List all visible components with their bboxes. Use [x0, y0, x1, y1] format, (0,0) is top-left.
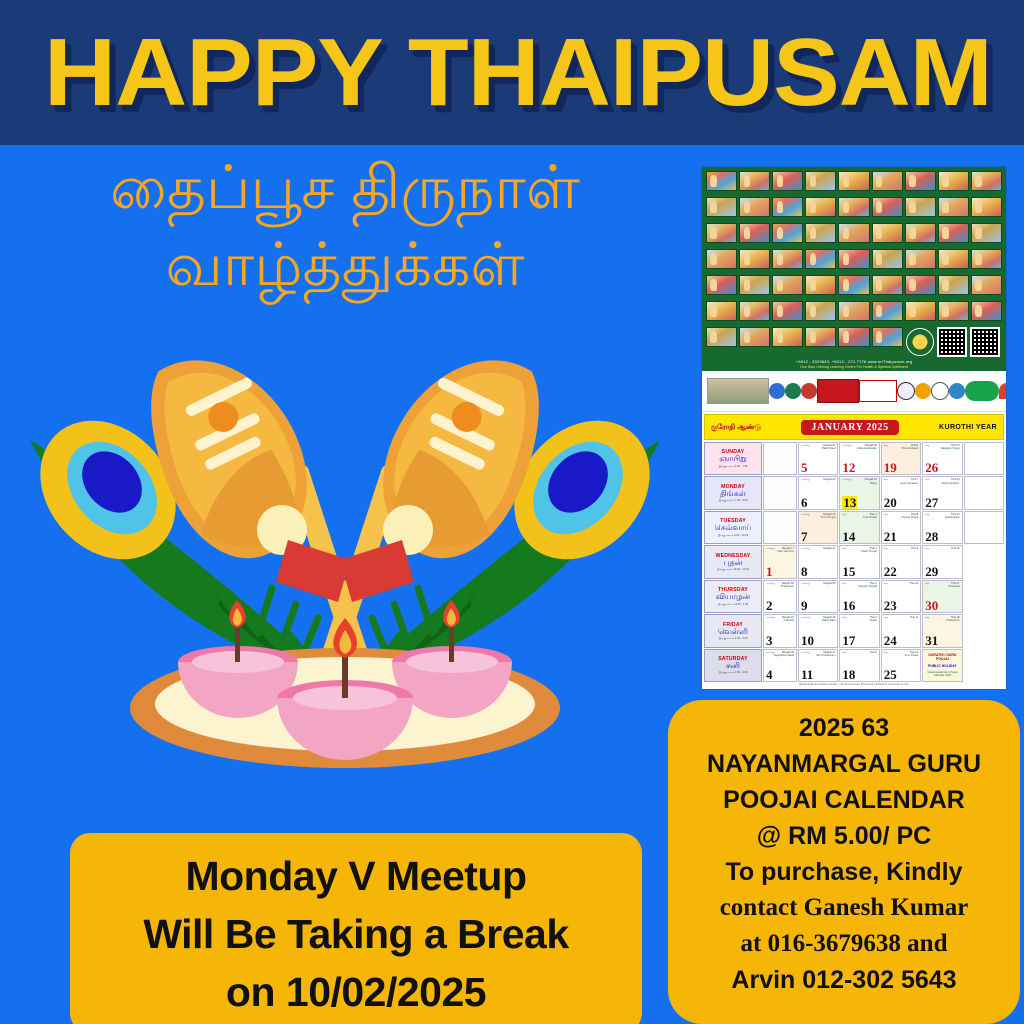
calendar-footnote: Nayanmargal Guru Poojai Calendar — All r… — [704, 682, 1004, 687]
saint-image-item — [772, 223, 803, 247]
saint-image-item — [905, 249, 936, 273]
date-cell[interactable]: தைThai 8 Poornai Poojai 21 — [881, 511, 921, 544]
notice-line-3: on 10/02/2025 — [226, 963, 486, 1021]
calendar-row-wednesday: WEDNESDAY புதன் இராகு காலம் 10.30 - 12.0… — [704, 545, 1004, 578]
vel-blade-left — [140, 341, 322, 573]
calendar-tagline: One Stop Lifelong Learning Centre For He… — [706, 365, 1002, 369]
saint-image-item — [905, 197, 936, 221]
saint-thumb-icon — [772, 327, 803, 347]
saint-thumb-icon — [872, 275, 903, 295]
saint-image-item — [739, 327, 770, 357]
saint-image-item — [905, 171, 936, 195]
saint-thumb-icon — [872, 171, 903, 191]
date-cell[interactable]: மார்கழிMargali 25 9 — [798, 580, 838, 613]
saint-image-item — [905, 301, 936, 325]
date-cell[interactable]: தைThai 10 23 — [881, 580, 921, 613]
sponsor-logo — [897, 379, 915, 403]
date-cell[interactable]: மார்கழிMargali 17 New Year Day 1 — [763, 545, 797, 578]
saint-image-item — [838, 301, 869, 325]
date-cell[interactable]: தைThai 3 Kaanum Pongal 16 — [839, 580, 879, 613]
promo-line-2: NAYANMARGAL GURU — [676, 746, 1012, 782]
saint-image-item — [706, 171, 737, 195]
date-cell[interactable]: தைThai 5 18 — [839, 649, 879, 682]
saint-thumb-icon — [838, 197, 869, 217]
saint-thumb-icon — [905, 301, 936, 321]
saint-thumb-icon — [706, 223, 737, 243]
saint-thumb-icon — [805, 327, 836, 347]
date-cell[interactable]: மார்கழிMargali 27 Sani Pradosham 11 — [798, 649, 838, 682]
saint-thumb-icon — [772, 223, 803, 243]
saint-image-item — [838, 275, 869, 299]
promo-line-3: POOJAI CALENDAR — [676, 782, 1012, 818]
calendar-row-monday: MONDAY திங்கள் இராகு காலம் 7.30 - 9.00 ம… — [704, 476, 1004, 509]
saint-thumb-icon — [971, 197, 1002, 217]
saint-thumb-icon — [805, 223, 836, 243]
date-cell[interactable]: மார்கழிMargali 29 Bhogi 13 — [839, 476, 879, 509]
date-cell[interactable]: தைThai 11 24 — [881, 614, 921, 647]
vel-blade-right — [368, 341, 550, 573]
tamil-greeting: தைப்பூச திருநாள் வாழ்த்துக்கள் — [0, 150, 690, 304]
saint-image-item — [739, 171, 770, 195]
sponsor-logo — [817, 378, 859, 404]
saint-image-item — [706, 301, 737, 325]
saint-image-item — [805, 197, 836, 221]
qr-code-1[interactable] — [937, 327, 967, 357]
saint-image-item — [805, 171, 836, 195]
weekday-label-saturday: SATURDAY சனி இராகு காலம் 3.00 - 4.30 — [704, 649, 762, 682]
saint-thumb-icon — [971, 171, 1002, 191]
saint-thumb-icon — [905, 171, 936, 191]
saint-image-item — [905, 223, 936, 247]
calendar-row-tuesday: TUESDAY செவ்வாய் இராகு காலம் 9.00 - 10.3… — [704, 511, 1004, 544]
saint-thumb-icon — [971, 223, 1002, 243]
saint-image-item — [739, 223, 770, 247]
saint-image-item — [905, 275, 936, 299]
raagu-kaalam-column — [763, 442, 797, 475]
saint-image-item — [971, 171, 1002, 195]
weekday-label-thursday: THURSDAY வியாழன் இராகு காலம் 12.00 - 1.3… — [704, 580, 762, 613]
saint-thumb-icon — [805, 197, 836, 217]
date-cell[interactable]: மார்கழிMargali 18 Pradosham 2 — [763, 580, 797, 613]
date-cell-empty — [964, 511, 1004, 544]
saint-images-grid — [706, 171, 1002, 325]
saint-thumb-icon — [772, 301, 803, 321]
weekday-label-wednesday: WEDNESDAY புதன் இராகு காலம் 10.30 - 12.0… — [704, 545, 762, 578]
date-cell-empty — [964, 442, 1004, 475]
saint-image-item — [772, 249, 803, 273]
saint-image-item — [838, 171, 869, 195]
calendar-row-friday: FRIDAY வெள்ளி இராகு காலம் 1.30 - 3.00 மா… — [704, 614, 1004, 647]
date-cell[interactable]: தைThai 16 29 — [922, 545, 962, 578]
promo-line-phone-2: Arvin 012-302 5643 — [676, 962, 1012, 998]
raagu-kaalam-column — [763, 476, 797, 509]
calendar-row-sunday: SUNDAY ஞாயிறு இராகு காலம் 6.00 - 7.30 மா… — [704, 442, 1004, 475]
kurothi-year-label: KUROTHI YEAR — [939, 424, 997, 431]
saint-thumb-icon — [971, 275, 1002, 295]
weekday-label-sunday: SUNDAY ஞாயிறு இராகு காலம் 6.00 - 7.30 — [704, 442, 762, 475]
saint-image-item — [971, 197, 1002, 221]
calendar-promo-box[interactable]: 2025 63 NAYANMARGAL GURU POOJAI CALENDAR… — [668, 700, 1020, 1024]
saint-thumb-icon — [706, 275, 737, 295]
sponsor-logo — [915, 379, 931, 403]
saint-thumb-icon — [739, 249, 770, 269]
qr-code-2[interactable] — [970, 327, 1000, 357]
saint-image-item — [706, 223, 737, 247]
saint-image-item — [838, 223, 869, 247]
saint-thumb-icon — [706, 249, 737, 269]
calendar-row-thursday: THURSDAY வியாழன் இராகு காலம் 12.00 - 1.3… — [704, 580, 1004, 613]
sponsor-logo — [949, 379, 965, 403]
saint-image-item — [872, 327, 903, 357]
date-cell[interactable]: மார்கழிMargali 19 Chaturthi 3 — [763, 614, 797, 647]
weekday-rows: SUNDAY ஞாயிறு இராகு காலம் 6.00 - 7.30 மா… — [704, 442, 1004, 682]
org-logo-and-qr-block — [905, 327, 1002, 357]
notice-line-2: Will Be Taking a Break — [143, 905, 568, 963]
sponsor-logo-strip — [702, 371, 1006, 412]
sponsor-logo — [769, 379, 785, 403]
saint-thumb-icon — [805, 275, 836, 295]
weekday-label-monday: MONDAY திங்கள் இராகு காலம் 7.30 - 9.00 — [704, 476, 762, 509]
sponsor-logo — [785, 379, 801, 403]
saint-thumb-icon — [838, 223, 869, 243]
saint-thumb-icon — [805, 171, 836, 191]
saint-thumb-icon — [905, 249, 936, 269]
saint-image-item — [872, 171, 903, 195]
calendar-contact-line: +6012 - 3029643, +6012 - 271 7776 www.sr… — [706, 359, 1002, 364]
saint-image-item — [805, 249, 836, 273]
date-cell[interactable]: தைThai 14 Sashti Viratham 27 — [922, 476, 962, 509]
thaipusam-greeting-poster: HAPPY THAIPUSAM தைப்பூச திருநாள் வாழ்த்த… — [0, 0, 1024, 1024]
thaipusam-illustration — [0, 330, 690, 800]
notice-line-1: Monday V Meetup — [185, 847, 526, 905]
saint-images-row-with-qr — [706, 327, 1002, 357]
date-cell[interactable]: தைThai 17 Amavasai 30 — [922, 580, 962, 613]
sponsor-logo — [801, 379, 817, 403]
public-holiday-cell: KURATHI / GURU POOJAI PUBLIC HOLIDAY Nay… — [922, 649, 962, 682]
date-cell[interactable]: மார்கழிMargali 28 Vaikunta Ekadasi 12 — [839, 442, 879, 475]
promo-line-1: 2025 63 — [676, 710, 1012, 746]
saint-thumb-icon — [872, 249, 903, 269]
saint-thumb-icon — [971, 301, 1002, 321]
date-cell-empty — [964, 476, 1004, 509]
saint-thumb-icon — [838, 275, 869, 295]
saint-image-item — [838, 197, 869, 221]
saint-thumb-icon — [772, 275, 803, 295]
saint-image-item — [872, 301, 903, 325]
date-cell[interactable]: மார்கழிMargali 21 Bakthi Naal 5 — [798, 442, 838, 475]
saint-thumb-icon — [905, 275, 936, 295]
org-logo-icon — [906, 328, 934, 356]
saint-thumb-icon — [905, 223, 936, 243]
saint-thumb-icon — [772, 197, 803, 217]
sponsor-logo — [931, 379, 949, 403]
page-title: HAPPY THAIPUSAM — [32, 25, 992, 121]
saint-image-item — [706, 249, 737, 273]
weekday-label-friday: FRIDAY வெள்ளி இராகு காலம் 1.30 - 3.00 — [704, 614, 762, 647]
date-cell[interactable]: தைThai 1 Thai Pongal 14 — [839, 511, 879, 544]
saint-image-item — [872, 249, 903, 273]
month-banner: குரோதி ஆண்டு JANUARY 2025 KUROTHI YEAR — [704, 414, 1004, 440]
promo-line-5: To purchase, Kindly — [676, 854, 1012, 890]
date-cell[interactable]: தைThai 12 Guru Poojai 25 — [881, 649, 921, 682]
weekday-label-tuesday: TUESDAY செவ்வாய் இராகு காலம் 9.00 - 10.3… — [704, 511, 762, 544]
date-cell[interactable]: தைThai 7 Guru Ashtakam 20 — [881, 476, 921, 509]
date-cell[interactable]: மார்கழிMargali 22 6 — [798, 476, 838, 509]
promo-line-phone-1: at 016-3679638 and — [676, 926, 1012, 962]
saint-image-item — [805, 223, 836, 247]
sponsor-logo — [707, 378, 769, 404]
date-cell[interactable]: மார்கழிMargali 20 Nagarathar Sabai 4 — [763, 649, 797, 682]
date-cell[interactable]: தைThai 18 Pradosham 31 — [922, 614, 962, 647]
saint-thumb-icon — [938, 275, 969, 295]
saint-thumb-icon — [739, 301, 770, 321]
saint-image-item — [706, 327, 737, 357]
date-cell[interactable]: மார்கழிMargali 24 8 — [798, 545, 838, 578]
saint-thumb-icon — [971, 249, 1002, 269]
calendar-top-panel: +6012 - 3029643, +6012 - 271 7776 www.sr… — [702, 167, 1006, 371]
saint-image-item — [739, 249, 770, 273]
saint-thumb-icon — [938, 249, 969, 269]
raagu-kaalam-column — [763, 511, 797, 544]
saint-image-item — [872, 275, 903, 299]
saint-thumb-icon — [772, 171, 803, 191]
saint-image-item — [971, 223, 1002, 247]
saint-thumb-icon — [872, 327, 903, 347]
month-title: JANUARY 2025 — [801, 420, 898, 435]
saint-thumb-icon — [938, 223, 969, 243]
sponsor-logo — [859, 378, 897, 404]
saint-image-item — [739, 197, 770, 221]
date-cell[interactable]: தைThai 6 Thiruvembavai 19 — [881, 442, 921, 475]
promo-line-price: @ RM 5.00/ PC — [676, 818, 1012, 854]
saint-image-item — [772, 197, 803, 221]
saint-image-item — [971, 249, 1002, 273]
saint-thumb-icon — [706, 197, 737, 217]
saint-image-item — [938, 223, 969, 247]
saint-image-item — [971, 301, 1002, 325]
saint-thumb-icon — [938, 197, 969, 217]
saint-image-item — [805, 327, 836, 357]
saint-thumb-icon — [872, 197, 903, 217]
saint-image-item — [772, 275, 803, 299]
saint-image-item — [872, 197, 903, 221]
saint-thumb-icon — [739, 327, 770, 347]
promo-line-contact-name: contact Ganesh Kumar — [676, 890, 1012, 926]
saint-image-item — [938, 171, 969, 195]
saint-image-item — [772, 171, 803, 195]
tamil-greeting-line-1: தைப்பூச திருநாள் — [0, 150, 690, 227]
saint-image-item — [938, 301, 969, 325]
saint-thumb-icon — [838, 301, 869, 321]
date-cell[interactable]: தைThai 4 Sashti 17 — [839, 614, 879, 647]
saint-image-item — [872, 223, 903, 247]
saint-thumb-icon — [905, 197, 936, 217]
calendar-image[interactable]: +6012 - 3029643, +6012 - 271 7776 www.sr… — [702, 167, 1006, 689]
saint-thumb-icon — [706, 327, 737, 347]
saint-thumb-icon — [706, 301, 737, 321]
saint-image-item — [706, 197, 737, 221]
saint-image-item — [805, 275, 836, 299]
saint-thumb-icon — [938, 171, 969, 191]
saint-thumb-icon — [739, 223, 770, 243]
date-cell[interactable]: தைThai 2 Mattu Pongal 15 — [839, 545, 879, 578]
saint-thumb-icon — [838, 327, 869, 347]
saint-image-item — [938, 197, 969, 221]
saint-thumb-icon — [706, 171, 737, 191]
saint-thumb-icon — [739, 197, 770, 217]
saint-image-item — [772, 327, 803, 357]
saint-thumb-icon — [872, 223, 903, 243]
saint-image-item — [739, 301, 770, 325]
date-cell[interactable]: தைThai 15 Sankatahara 28 — [922, 511, 962, 544]
saint-image-item — [938, 275, 969, 299]
saint-image-item — [838, 327, 869, 357]
saint-image-item — [838, 249, 869, 273]
date-cell[interactable]: மார்கழிMargali 26 Bakthi Naal 10 — [798, 614, 838, 647]
saint-thumb-icon — [805, 249, 836, 269]
saint-thumb-icon — [739, 171, 770, 191]
sponsor-logo — [999, 379, 1006, 403]
saint-image-item — [739, 275, 770, 299]
saint-image-item — [938, 249, 969, 273]
saint-thumb-icon — [838, 249, 869, 269]
meetup-break-notice-box[interactable]: Monday V Meetup Will Be Taking a Break o… — [70, 833, 642, 1024]
saint-image-item — [805, 301, 836, 325]
header-band: HAPPY THAIPUSAM — [0, 0, 1024, 145]
saint-thumb-icon — [805, 301, 836, 321]
saint-thumb-icon — [739, 275, 770, 295]
tamil-year-label: குரோதி ஆண்டு — [711, 423, 761, 432]
date-cell[interactable]: மார்கழிMargali 23 Thiru Pongal 7 — [798, 511, 838, 544]
tamil-greeting-line-2: வாழ்த்துக்கள் — [0, 227, 690, 304]
saint-thumb-icon — [838, 171, 869, 191]
saint-image-item — [706, 275, 737, 299]
january-month-grid: குரோதி ஆண்டு JANUARY 2025 KUROTHI YEAR S… — [702, 412, 1006, 689]
saint-thumb-icon — [872, 301, 903, 321]
sponsor-logo — [965, 378, 999, 404]
date-cell[interactable]: தைThai 9 22 — [881, 545, 921, 578]
saint-image-item — [772, 301, 803, 325]
saint-thumb-icon — [938, 301, 969, 321]
calendar-row-saturday: SATURDAY சனி இராகு காலம் 3.00 - 4.30 மார… — [704, 649, 1004, 682]
saint-image-item — [971, 275, 1002, 299]
date-cell[interactable]: தைThai 13 Magaram Poojai 26 — [922, 442, 962, 475]
saint-thumb-icon — [772, 249, 803, 269]
